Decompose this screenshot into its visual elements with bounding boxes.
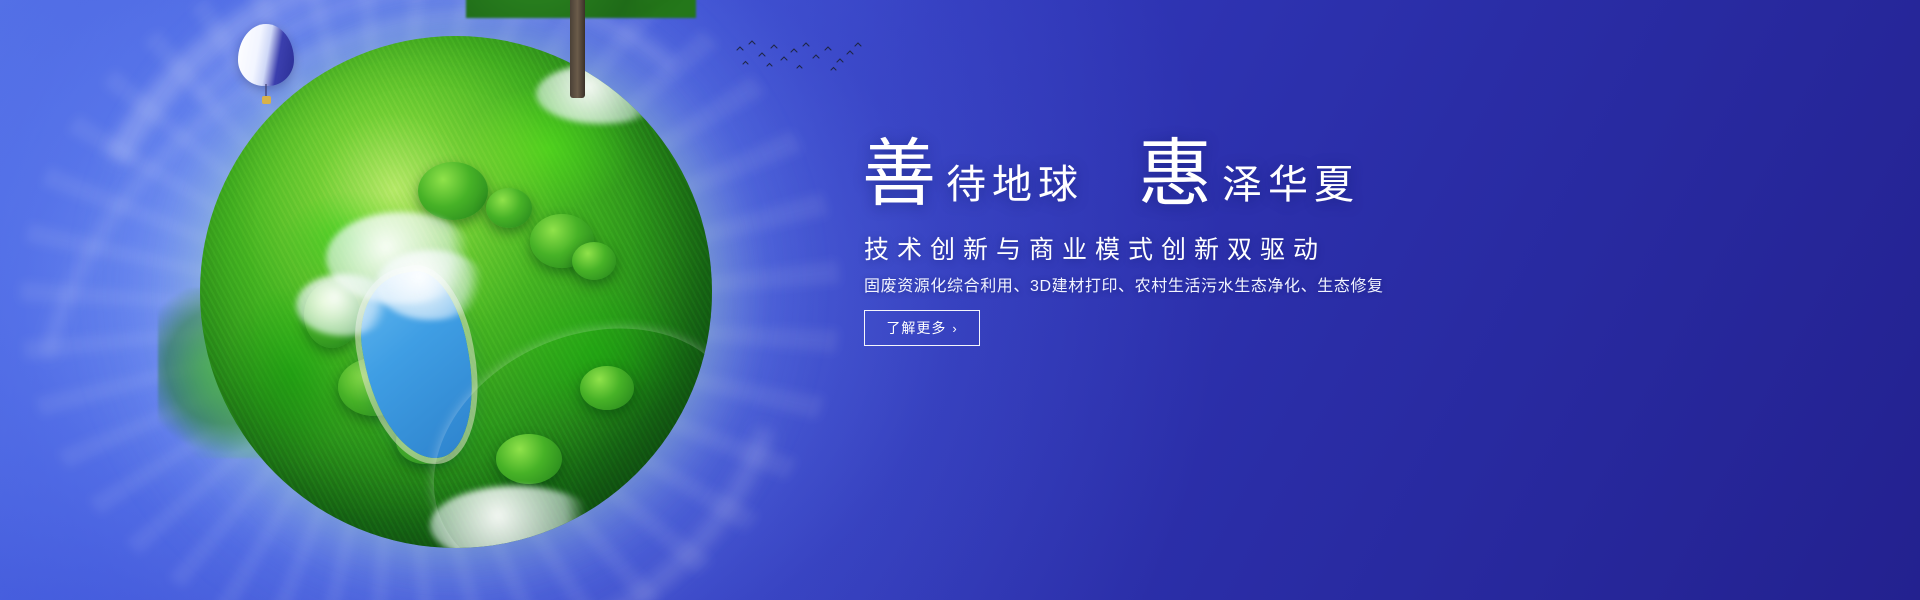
hero-content: 善 待地球 惠 泽华夏 技术创新与商业模式创新双驱动 固废资源化综合利用、3D建… — [862, 0, 1762, 600]
hot-air-balloon-icon — [238, 24, 294, 108]
balloon-envelope — [238, 24, 294, 86]
cloud-icon — [296, 274, 392, 336]
headline-part1-small: 待地球 — [946, 165, 1084, 212]
tree-icon — [486, 188, 532, 228]
hero-banner: 善 待地球 惠 泽华夏 技术创新与商业模式创新双驱动 固废资源化综合利用、3D建… — [0, 0, 1920, 600]
planet-sphere — [200, 36, 712, 548]
cloud-icon — [376, 250, 486, 320]
green-planet-image — [148, 0, 748, 588]
headline-part2-small: 泽华夏 — [1222, 165, 1360, 212]
chevron-right-icon: › — [952, 322, 957, 335]
birds-icon — [733, 38, 863, 78]
balloon-basket — [262, 96, 271, 104]
learn-more-button[interactable]: 了解更多 › — [864, 310, 980, 346]
learn-more-label: 了解更多 — [886, 318, 946, 338]
tree-icon — [418, 162, 488, 220]
page-title: 善 待地球 惠 泽华夏 — [862, 138, 1360, 212]
tree-icon — [572, 242, 616, 280]
hero-description: 固废资源化综合利用、3D建材打印、农村生活污水生态净化、生态修复 — [864, 272, 1384, 296]
tree-icon — [466, 0, 696, 98]
headline-part2-big: 惠 — [1138, 138, 1214, 212]
headline-part1-big: 善 — [862, 138, 938, 212]
tree-trunk — [570, 0, 585, 98]
hero-subtitle: 技术创新与商业模式创新双驱动 — [864, 230, 1326, 266]
